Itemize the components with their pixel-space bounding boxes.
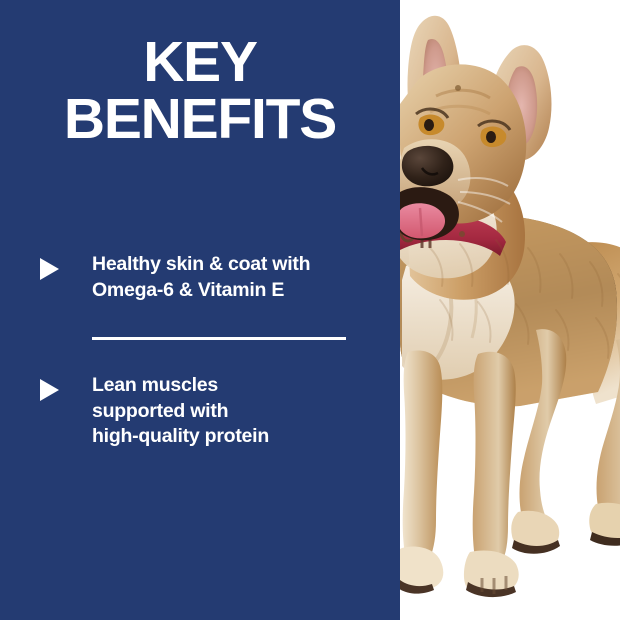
dog-front-leg-right [473,352,516,564]
triangle-right-icon [40,258,59,280]
forehead-spot [455,85,461,91]
dog-front-leg-left [403,351,443,560]
spacer-below-divider [40,340,380,373]
dog-nose [402,146,454,186]
collar-stud [459,231,465,237]
benefit-item-2: Lean muscles supported with high-quality… [40,373,380,450]
dog-illustration [400,0,620,620]
dog-eye-left-pupil [424,119,434,131]
dog-photo [400,0,620,620]
benefit-item-2-label: Lean muscles supported with high-quality… [92,373,380,450]
dog-eye-right-pupil [486,131,496,143]
triangle-right-icon [40,379,59,401]
dog-paw-front-left [400,547,443,591]
benefits-panel: KEY BENEFITS Healthy skin & coat with Om… [0,0,400,620]
page-title: KEY BENEFITS [0,34,400,148]
key-benefits-banner: KEY BENEFITS Healthy skin & coat with Om… [0,0,620,620]
benefit-item-1-label: Healthy skin & coat with Omega-6 & Vitam… [92,252,380,303]
benefit-item-1: Healthy skin & coat with Omega-6 & Vitam… [40,252,380,303]
spacer-above-divider [40,303,380,337]
benefits-list: Healthy skin & coat with Omega-6 & Vitam… [40,252,380,450]
